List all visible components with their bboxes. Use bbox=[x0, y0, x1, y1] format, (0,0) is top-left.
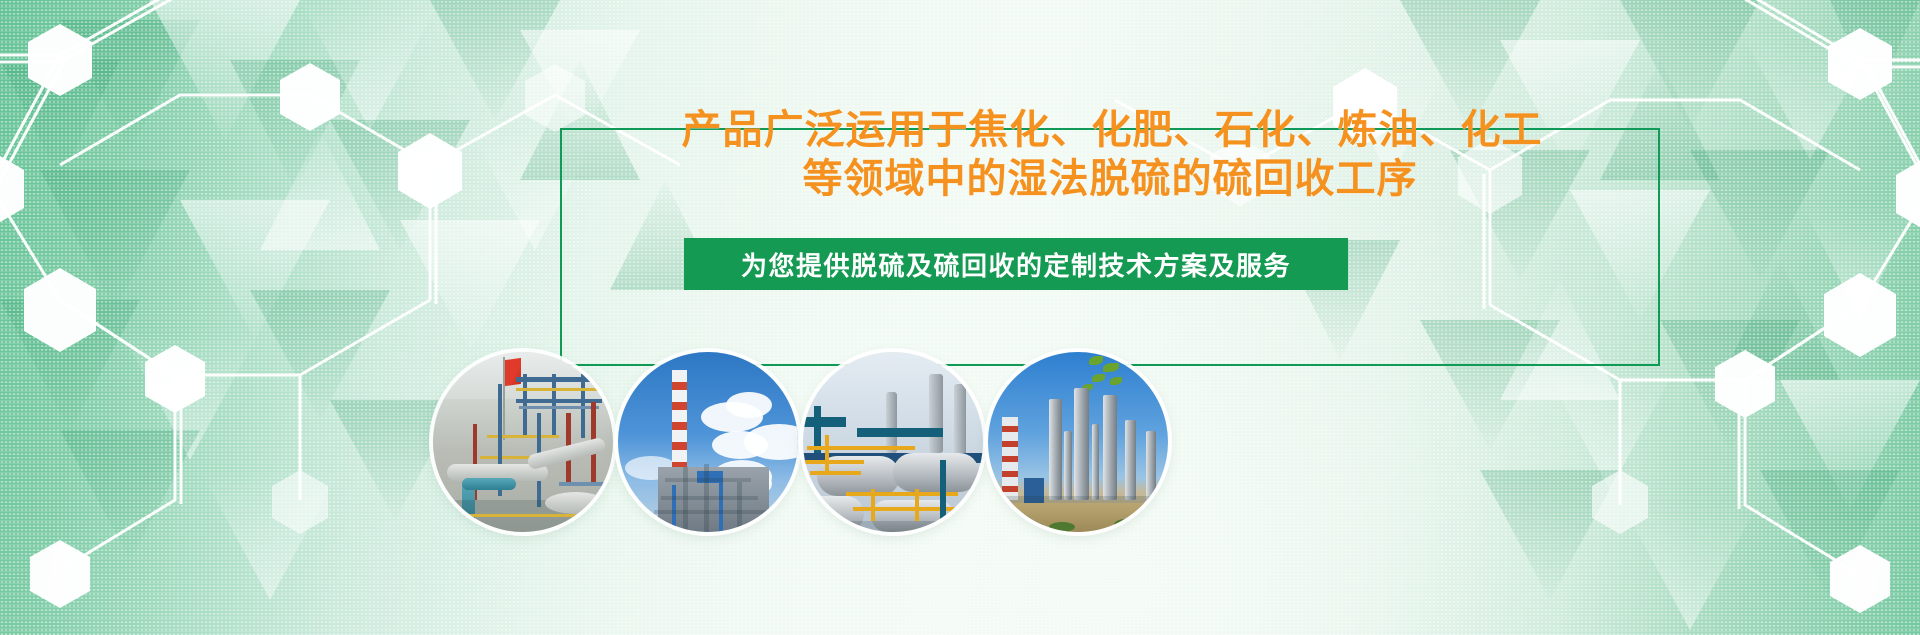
photo-chimney-blue-sky bbox=[618, 352, 798, 532]
subtitle-bar: 为您提供脱硫及硫回收的定制技术方案及服务 bbox=[684, 238, 1348, 290]
subtitle-text: 为您提供脱硫及硫回收的定制技术方案及服务 bbox=[741, 246, 1291, 283]
photo-strip bbox=[0, 352, 1920, 635]
headline-line-2: 等领域中的湿法脱硫的硫回收工序 bbox=[560, 155, 1660, 204]
photo-refinery-columns bbox=[988, 352, 1168, 532]
photo-storage-tanks bbox=[803, 352, 983, 532]
promo-banner: 产品广泛运用于焦化、化肥、石化、炼油、化工 等领域中的湿法脱硫的硫回收工序 为您… bbox=[0, 0, 1920, 635]
headline-line-1: 产品广泛运用于焦化、化肥、石化、炼油、化工 bbox=[560, 106, 1660, 155]
photo-piping-plant bbox=[433, 352, 613, 532]
headline: 产品广泛运用于焦化、化肥、石化、炼油、化工 等领域中的湿法脱硫的硫回收工序 bbox=[560, 106, 1660, 204]
